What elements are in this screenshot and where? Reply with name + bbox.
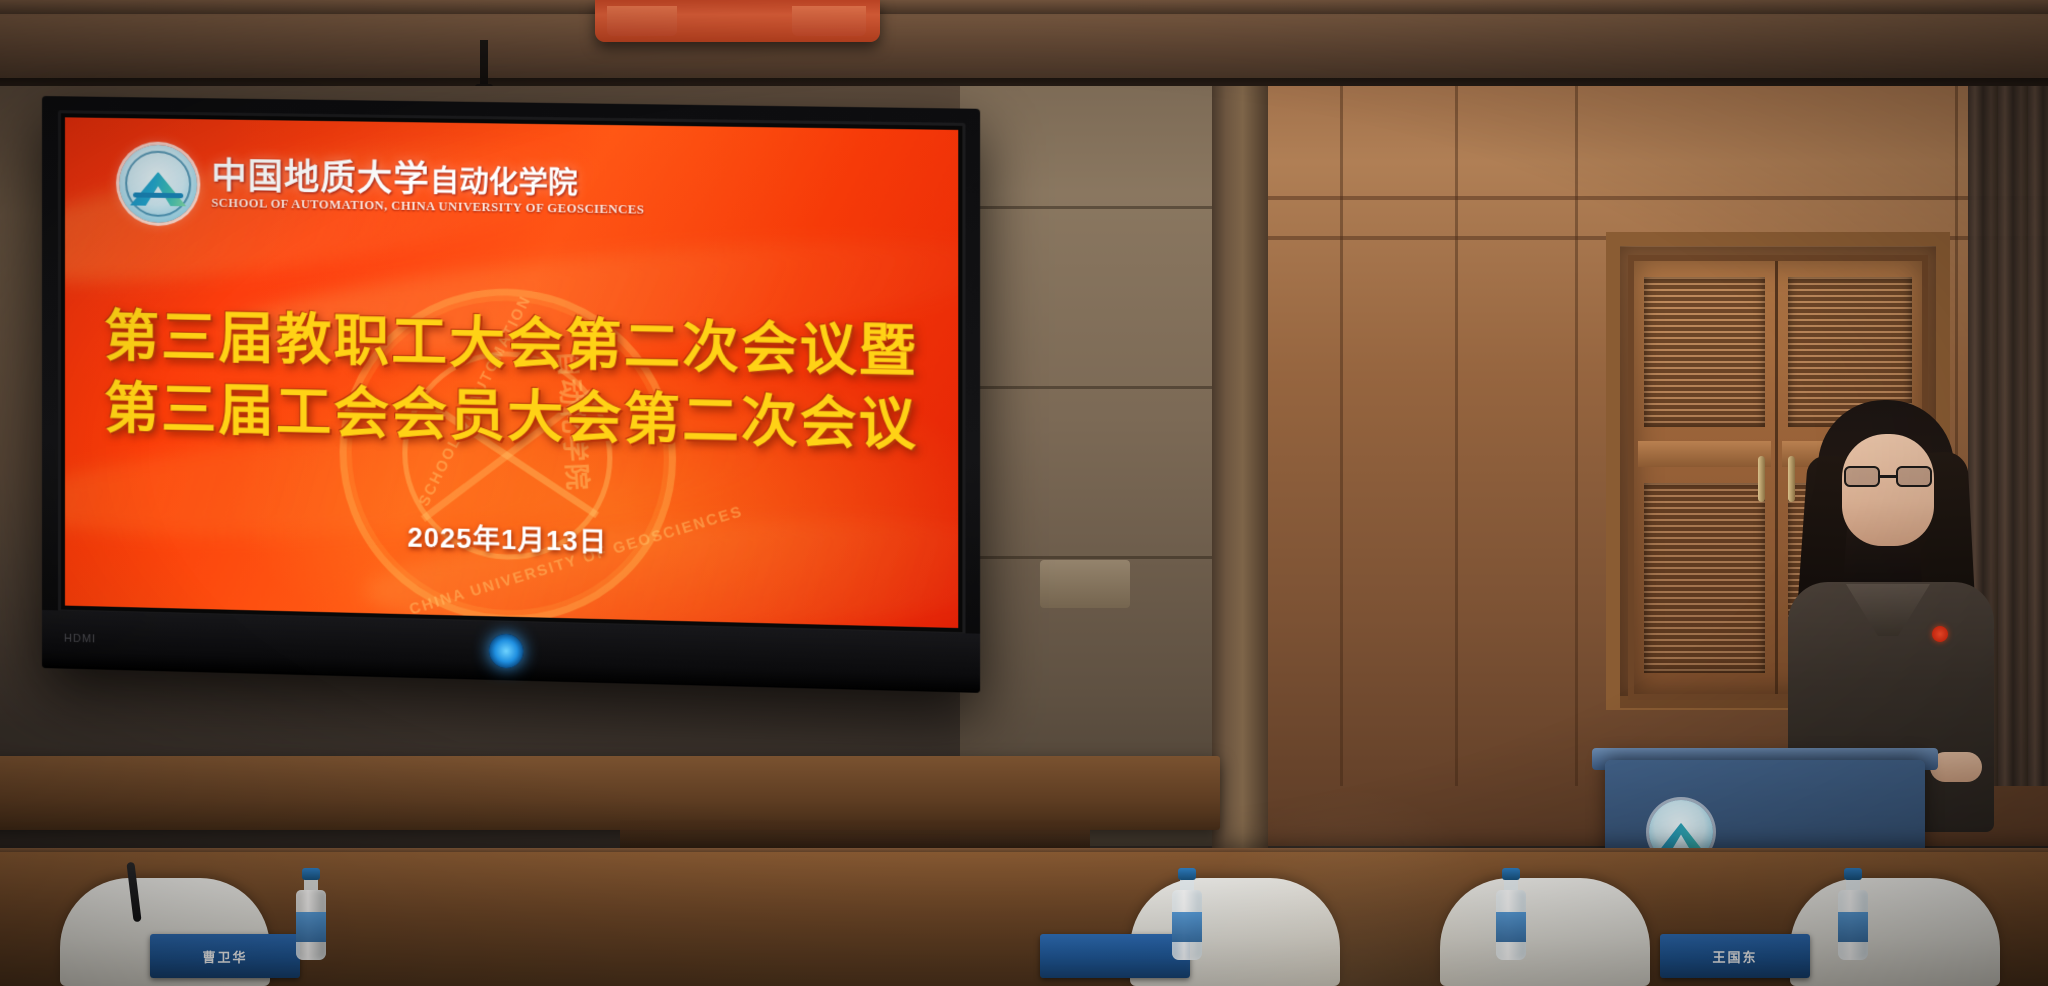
slide-institution-name: 中国地质大学 xyxy=(211,157,429,200)
wall-mounted-speaker xyxy=(1040,560,1130,608)
ceiling-projector-mount xyxy=(595,0,880,42)
water-bottle xyxy=(296,868,326,960)
chair xyxy=(1790,878,2000,986)
china-university-of-geosciences-emblem-icon xyxy=(119,144,197,223)
nameplate-label: 曹卫华 xyxy=(202,947,247,966)
conference-room-scene: SCHOOL OF AUTOMATION CHINA UNIVERSITY OF… xyxy=(0,0,2048,986)
wall-strip xyxy=(1575,86,1578,786)
display-bezel: SCHOOL OF AUTOMATION CHINA UNIVERSITY OF… xyxy=(58,110,966,635)
door-handle-left[interactable] xyxy=(1758,456,1765,502)
slide-title: 第三届教职工大会第二次会议暨 第三届工会会员大会第二次会议 xyxy=(65,299,958,461)
nameplate: 曹卫华 xyxy=(150,934,300,978)
nameplate: 王国东 xyxy=(1660,934,1810,978)
ceiling-rail xyxy=(0,0,2048,14)
nameplate xyxy=(1040,934,1190,978)
nameplate-label: 王国东 xyxy=(1712,947,1757,966)
slide-header: 中国地质大学自动化学院 SCHOOL OF AUTOMATION, CHINA … xyxy=(119,144,644,231)
water-bottle xyxy=(1838,868,1868,960)
slide-department-name: 自动化学院 xyxy=(430,166,578,201)
display-brand-label: HDMI xyxy=(64,633,96,646)
conference-tables: 曹卫华 王国东 xyxy=(0,756,2048,986)
back-table xyxy=(0,756,1220,830)
party-emblem-badge-icon xyxy=(1932,626,1948,642)
wall-strip xyxy=(1455,86,1458,786)
power-indicator-led-icon[interactable] xyxy=(489,633,524,668)
wall-strip xyxy=(1340,86,1343,786)
presentation-slide: SCHOOL OF AUTOMATION CHINA UNIVERSITY OF… xyxy=(65,117,958,628)
glasses-icon xyxy=(1844,466,1932,488)
projection-display[interactable]: SCHOOL OF AUTOMATION CHINA UNIVERSITY OF… xyxy=(42,96,980,693)
projector-arm xyxy=(480,40,488,88)
wall-molding xyxy=(1255,196,2048,200)
